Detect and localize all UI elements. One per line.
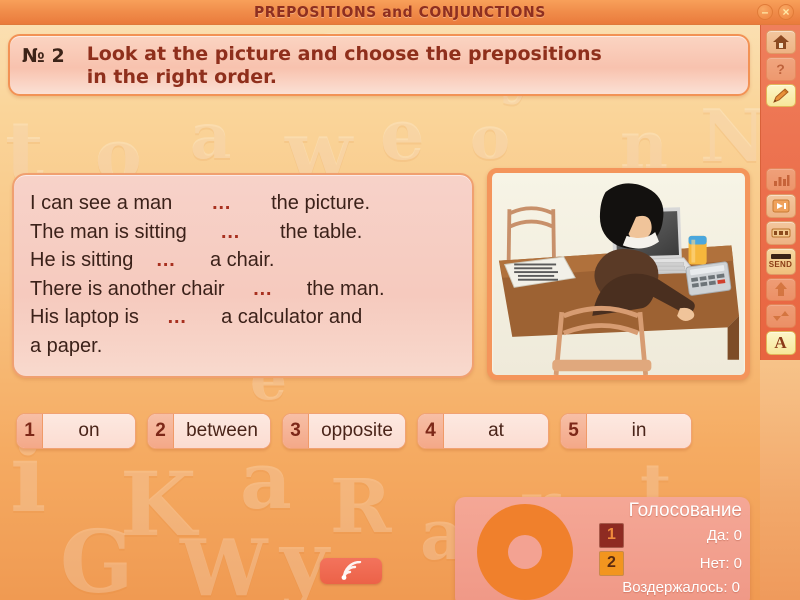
play-to-end-icon[interactable] bbox=[766, 194, 796, 218]
send-button[interactable]: SEND bbox=[766, 248, 796, 274]
window-title-bar: PREPOSITIONS and CONJUNCTIONS – × bbox=[0, 0, 800, 25]
arrows-updown-icon[interactable] bbox=[766, 304, 796, 328]
voting-dial[interactable] bbox=[455, 497, 595, 600]
vote-abstained-count: Воздержалось: 0 bbox=[599, 579, 742, 600]
task-instruction: Look at the picture and choose the prepo… bbox=[87, 43, 602, 89]
dial-ring-icon bbox=[477, 504, 573, 600]
dial-hole bbox=[508, 535, 542, 569]
home-glyph bbox=[772, 34, 790, 50]
lesson-stage: № 2 Look at the picture and choose the p… bbox=[0, 25, 760, 600]
answer-options-row: 1on2between3opposite4at5in bbox=[16, 413, 692, 449]
send-bar-icon bbox=[771, 254, 791, 259]
sentence-line: The man is sitting … the table. bbox=[30, 218, 456, 247]
arrow-up-icon[interactable] bbox=[766, 278, 796, 302]
bar-chart-icon[interactable] bbox=[766, 168, 796, 192]
option-word: at bbox=[444, 414, 548, 448]
vote-button-1[interactable]: 1 bbox=[599, 523, 624, 548]
option-number: 5 bbox=[561, 414, 587, 448]
vote-no-count: Нет: 0 bbox=[624, 555, 742, 572]
option-word: in bbox=[587, 414, 691, 448]
sentence-text-after: the table. bbox=[280, 221, 362, 243]
sentence-text-before: a paper. bbox=[30, 335, 102, 357]
option-number: 1 bbox=[17, 414, 43, 448]
sentence-text-after: the man. bbox=[307, 278, 385, 300]
font-letter-icon[interactable]: A bbox=[766, 331, 796, 355]
task-header: № 2 Look at the picture and choose the p… bbox=[8, 34, 750, 96]
answer-option-2[interactable]: 2between bbox=[147, 413, 271, 449]
sentence-line: I can see a man … the picture. bbox=[30, 189, 456, 218]
sentence-line: There is another chair … the man. bbox=[30, 275, 456, 304]
sentence-text-after: the picture. bbox=[271, 192, 370, 214]
keypad-glyph bbox=[771, 227, 791, 239]
voting-panel: Голосование 1 Да: 0 2 Нет: 0 Воздержалос… bbox=[455, 497, 750, 600]
pencil-icon[interactable] bbox=[766, 84, 796, 108]
sentence-blank-gap[interactable]: … bbox=[156, 249, 177, 271]
arrow-up-glyph bbox=[774, 281, 788, 297]
sentence-text-after: a chair. bbox=[210, 249, 274, 271]
home-icon[interactable] bbox=[766, 30, 796, 54]
answer-option-1[interactable]: 1on bbox=[16, 413, 136, 449]
option-number: 3 bbox=[283, 414, 309, 448]
window-controls: – × bbox=[757, 4, 794, 20]
voting-row-yes: 1 Да: 0 bbox=[599, 523, 742, 548]
keypad-icon[interactable] bbox=[766, 221, 796, 245]
send-label: SEND bbox=[769, 260, 792, 269]
sentence-text-after: a calculator and bbox=[221, 306, 362, 328]
bar-chart-glyph bbox=[772, 172, 790, 187]
desk-scene-svg bbox=[492, 173, 745, 375]
toolbar-tail-strip bbox=[760, 360, 800, 600]
sentence-text-before: He is sitting bbox=[30, 249, 133, 271]
voting-row-no: 2 Нет: 0 bbox=[599, 551, 742, 576]
close-icon[interactable]: × bbox=[778, 4, 794, 20]
answer-option-3[interactable]: 3opposite bbox=[282, 413, 406, 449]
play-end-glyph bbox=[772, 199, 790, 213]
sentence-line: a paper. bbox=[30, 332, 456, 361]
answer-option-4[interactable]: 4at bbox=[417, 413, 549, 449]
vote-button-2[interactable]: 2 bbox=[599, 551, 624, 576]
font-letter-label: A bbox=[774, 333, 786, 353]
vote-yes-count: Да: 0 bbox=[624, 527, 742, 544]
sentence-blank-gap[interactable]: … bbox=[211, 192, 232, 214]
toolbar-spacer bbox=[766, 110, 796, 164]
voting-results: Голосование 1 Да: 0 2 Нет: 0 Воздержалос… bbox=[595, 497, 750, 600]
option-word: opposite bbox=[309, 414, 405, 448]
task-number: № 2 bbox=[22, 43, 65, 67]
option-word: on bbox=[43, 414, 135, 448]
option-number: 2 bbox=[148, 414, 174, 448]
sentence-text-before: I can see a man bbox=[30, 192, 172, 214]
arrows-updown-glyph bbox=[772, 309, 790, 323]
window-title: PREPOSITIONS and CONJUNCTIONS bbox=[254, 3, 546, 21]
sentence-text-before: His laptop is bbox=[30, 306, 139, 328]
option-number: 4 bbox=[418, 414, 444, 448]
illustration-picture bbox=[487, 168, 750, 380]
sentence-panel: I can see a man … the picture.The man is… bbox=[12, 173, 474, 378]
wireless-connect-button[interactable] bbox=[320, 558, 382, 584]
sentence-line: He is sitting … a chair. bbox=[30, 246, 456, 275]
option-word: between bbox=[174, 414, 270, 448]
minimize-icon[interactable]: – bbox=[757, 4, 773, 20]
task-instruction-line2: in the right order. bbox=[87, 66, 602, 89]
sentence-text-before: The man is sitting bbox=[30, 221, 187, 243]
sentence-blank-gap[interactable]: … bbox=[167, 306, 188, 328]
wifi-signal-icon bbox=[338, 561, 364, 581]
voting-title: Голосование bbox=[599, 501, 742, 521]
sentence-blank-gap[interactable]: … bbox=[220, 221, 241, 243]
sentence-text-before: There is another chair bbox=[30, 278, 225, 300]
help-icon[interactable]: ? bbox=[766, 57, 796, 81]
sentence-blank-gap[interactable]: … bbox=[252, 278, 273, 300]
answer-option-5[interactable]: 5in bbox=[560, 413, 692, 449]
pencil-glyph bbox=[771, 87, 791, 105]
right-toolbar: ? bbox=[760, 25, 800, 360]
task-instruction-line1: Look at the picture and choose the prepo… bbox=[87, 43, 602, 66]
sentence-line: His laptop is … a calculator and bbox=[30, 303, 456, 332]
